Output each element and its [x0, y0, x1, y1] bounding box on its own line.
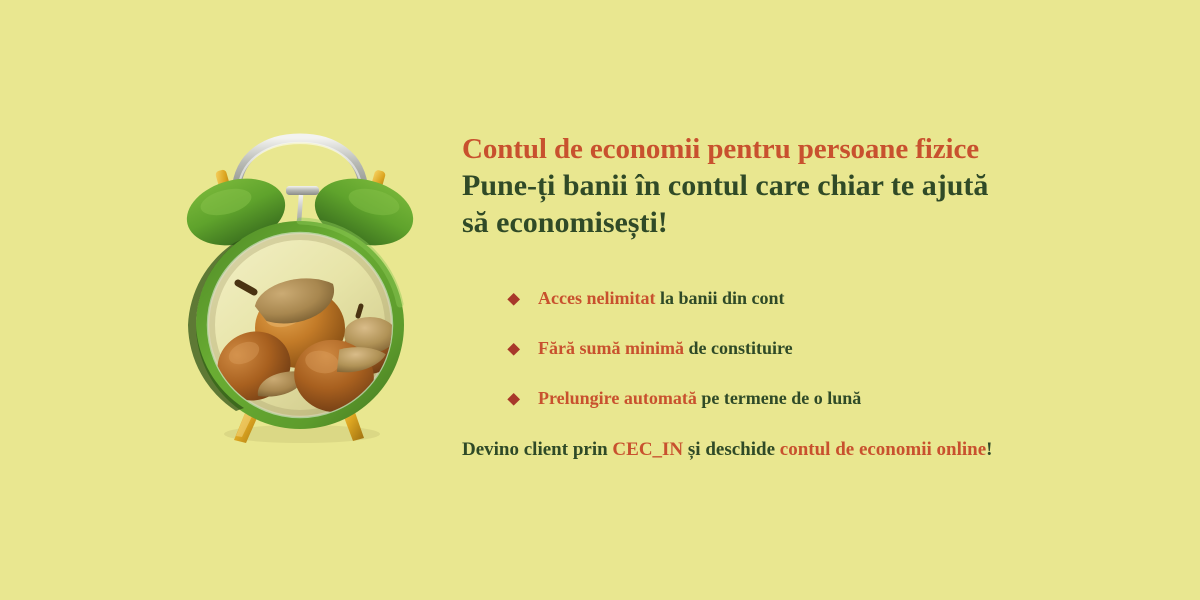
- cta-text-part-3: !: [986, 439, 992, 460]
- feature-item-1-accent: Acces nelimitat: [538, 288, 655, 308]
- feature-item-3-rest: pe termene de o lună: [697, 388, 861, 408]
- alarm-clock-illustration: [150, 110, 450, 450]
- diamond-bullet-icon: [507, 293, 520, 306]
- promo-text-block: Contul de economii pentru persoane fizic…: [462, 132, 1102, 461]
- cta-line: Devino client prin CEC_IN și deschide co…: [462, 439, 1102, 461]
- savings-account-promo-banner: Contul de economii pentru persoane fizic…: [0, 0, 1200, 600]
- cta-link-cec-in[interactable]: CEC_IN: [612, 439, 683, 460]
- feature-item-1: Acces nelimitat la banii din cont: [462, 289, 1102, 309]
- promo-main-heading-line-1: Pune-ți banii în contul care chiar te aj…: [462, 168, 1102, 205]
- cta-text-part-1: Devino client prin: [462, 439, 612, 460]
- feature-item-1-rest: la banii din cont: [655, 288, 784, 308]
- cta-link-savings-account-online[interactable]: contul de economii online: [780, 439, 986, 460]
- feature-item-3: Prelungire automată pe termene de o lună: [462, 389, 1102, 409]
- promo-main-heading-line-2: să economisești!: [462, 205, 1102, 242]
- feature-item-2-accent: Fără sumă minimă: [538, 338, 684, 358]
- promo-main-heading: Pune-ți banii în contul care chiar te aj…: [462, 168, 1102, 241]
- promo-eyebrow-heading: Contul de economii pentru persoane fizic…: [462, 132, 1102, 166]
- cta-text-part-2: și deschide: [683, 439, 780, 460]
- feature-item-2-rest: de constituire: [684, 338, 793, 358]
- feature-item-3-accent: Prelungire automată: [538, 388, 697, 408]
- clock-hammer-head: [286, 186, 319, 195]
- feature-item-2: Fără sumă minimă de constituire: [462, 339, 1102, 359]
- diamond-bullet-icon: [507, 343, 520, 356]
- diamond-bullet-icon: [507, 393, 520, 406]
- alarm-clock-icon: [150, 110, 450, 450]
- feature-list: Acces nelimitat la banii din cont Fără s…: [462, 289, 1102, 408]
